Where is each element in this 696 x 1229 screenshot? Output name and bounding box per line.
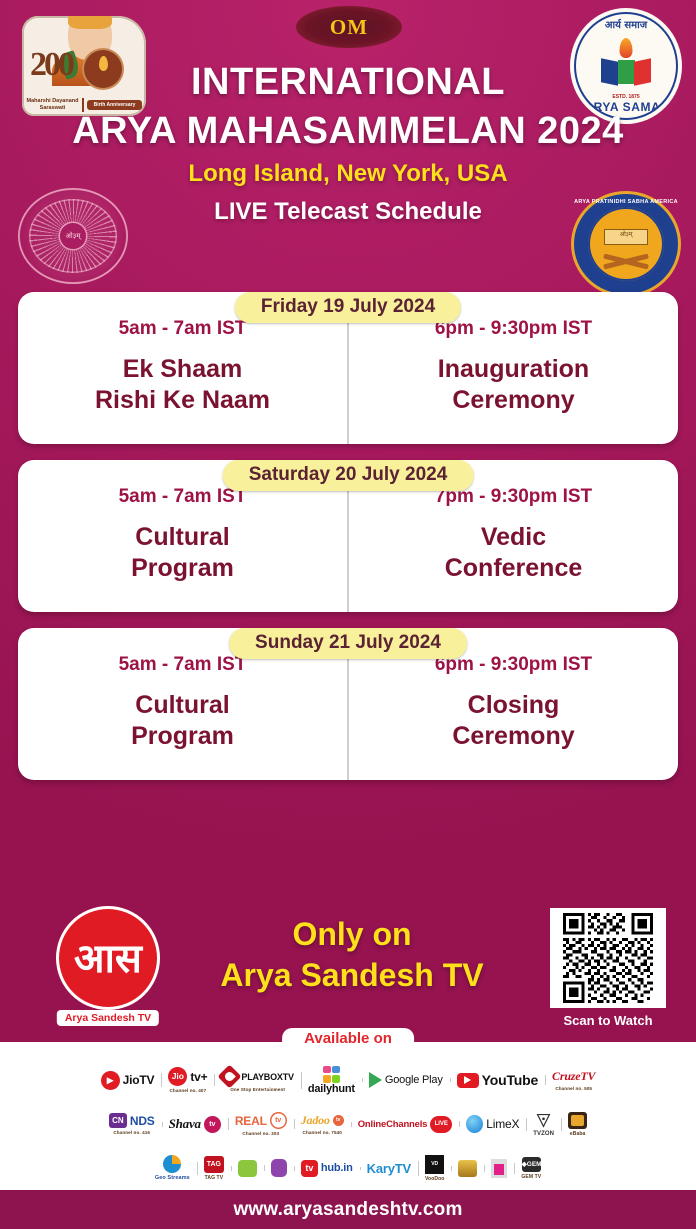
platform-label: YouTube (482, 1072, 538, 1088)
platform-label: eBaba (570, 1131, 586, 1137)
platform-label: Geo Streams (155, 1175, 190, 1181)
event-location: Long Island, New York, USA (0, 156, 696, 192)
title-block: INTERNATIONAL ARYA MAHASAMMELAN 2024 Lon… (0, 58, 696, 232)
geo-streams-icon (163, 1155, 181, 1173)
page-subtitle: LIVE Telecast Schedule (0, 192, 696, 232)
platform-gold-tv[interactable] (451, 1160, 484, 1177)
platform-logo-rows: ▶ JioTV Jio tv+ Channel no. 407 PLAYBOXT… (0, 1058, 696, 1190)
ebaba-icon (568, 1112, 587, 1129)
promo-line1: Only on (178, 914, 526, 954)
om-icon: OM (296, 6, 402, 48)
tag-tv-icon: TAG (204, 1156, 224, 1173)
platform-mmm[interactable] (484, 1159, 514, 1178)
platform-shava-tv[interactable]: Shava tv (162, 1116, 228, 1133)
day-date-badge: Saturday 20 July 2024 (223, 460, 474, 491)
yajna-sticks-icon (603, 253, 649, 271)
platform-purple-tv[interactable] (264, 1159, 294, 1177)
day-date-badge: Sunday 21 July 2024 (229, 628, 467, 659)
schedule-day-friday: Friday 19 July 2024 5am - 7am IST Ek Sha… (18, 292, 678, 444)
platform-label: Shava (169, 1116, 201, 1132)
jadoo-tv-icon: tv (333, 1115, 344, 1126)
platform-label: GEM TV (521, 1174, 541, 1180)
platform-channel-number: Channel no. 7540 (303, 1130, 342, 1135)
platform-geo-streams[interactable]: Geo Streams (148, 1155, 197, 1181)
platform-gem-tv[interactable]: ◆GEM GEM TV (514, 1157, 548, 1180)
slot-event: ClosingCeremony (359, 690, 668, 752)
platform-tvhub[interactable]: tv hub.in (294, 1160, 360, 1177)
slot-event: VedicConference (359, 522, 668, 584)
qr-code-icon (555, 913, 661, 1003)
real-tv-icon: tv (270, 1112, 287, 1129)
platform-youtube[interactable]: YouTube (450, 1072, 545, 1088)
slot-event: CulturalProgram (28, 522, 337, 584)
om-label: OM (330, 15, 368, 40)
platform-label: TAG TV (205, 1175, 224, 1181)
platform-online-channels-live[interactable]: OnlineChannels LIVE (351, 1116, 460, 1133)
channel-logo-circle: आस (56, 906, 160, 1010)
promo-section: आस Arya Sandesh TV Only on Arya Sandesh … (0, 900, 696, 1032)
available-on-section: Available on ▶ JioTV Jio tv+ Channel no.… (0, 1042, 696, 1190)
platform-jiotv[interactable]: ▶ JioTV (94, 1071, 162, 1090)
available-on-label: Available on (282, 1028, 414, 1050)
platform-channel-number: Channel no. 505 (555, 1086, 592, 1091)
platform-green-tv[interactable] (231, 1160, 264, 1177)
platform-channel-number: Channel no. 416 (113, 1130, 150, 1135)
schedule-day-saturday: Saturday 20 July 2024 5am - 7am IST Cult… (18, 460, 678, 612)
platform-label: VooDoo (425, 1176, 444, 1182)
platform-label: PLAYBOXTV (241, 1072, 293, 1082)
qr-caption: Scan to Watch (544, 1013, 672, 1028)
footer-bar: www.aryasandeshtv.com (0, 1190, 696, 1229)
tvhub-icon: tv (301, 1160, 318, 1177)
gem-tv-icon: ◆GEM (522, 1157, 541, 1172)
savera-icon: CN (109, 1113, 127, 1128)
platform-label: Jadoo (301, 1113, 330, 1128)
platform-real-tv[interactable]: REAL tv Channel no. 303 (228, 1112, 294, 1136)
platform-label: dailyhunt (308, 1083, 355, 1095)
google-play-icon (369, 1072, 382, 1088)
platform-label: TVZON (533, 1131, 554, 1137)
mmm-icon (491, 1159, 507, 1178)
platform-ebaba[interactable]: eBaba (561, 1112, 594, 1137)
playbox-diamond-icon (218, 1064, 242, 1088)
limex-icon (466, 1115, 483, 1133)
tvzon-icon (535, 1112, 552, 1129)
platform-label: OnlineChannels (358, 1119, 428, 1130)
slot-event: Ek ShaamRishi Ke Naam (28, 354, 337, 416)
poster-header: OM 200 Maharshi Dayanand Saraswati Birth… (0, 0, 696, 278)
channel-logo-devanagari: आस (56, 906, 160, 1010)
platform-jio-tv-plus[interactable]: Jio tv+ Channel no. 407 (161, 1067, 214, 1093)
platform-dailyhunt[interactable]: dailyhunt (301, 1066, 362, 1095)
platform-kary-tv[interactable]: KaryTV (360, 1161, 418, 1176)
flame-icon (620, 38, 633, 58)
jio-icon: ▶ (101, 1071, 120, 1090)
platform-label: Google Play (385, 1074, 443, 1086)
platform-label: JioTV (123, 1073, 155, 1087)
platform-label: LimeX (486, 1117, 519, 1131)
voodoo-tv-icon: VD (425, 1155, 444, 1174)
gold-tv-icon (458, 1160, 477, 1177)
promo-text: Only on Arya Sandesh TV (178, 914, 526, 996)
platform-label: CruzeTV (552, 1069, 595, 1084)
page-title-line1: INTERNATIONAL (0, 58, 696, 106)
platform-label: tv+ (190, 1070, 207, 1084)
slot-event: CulturalProgram (28, 690, 337, 752)
platform-voodoo-tv[interactable]: VD VooDoo (418, 1155, 451, 1182)
arya-sandesh-tv-logo: आस Arya Sandesh TV (48, 906, 168, 1024)
slot-event: InaugurationCeremony (359, 354, 668, 416)
youtube-icon (457, 1073, 479, 1088)
website-url[interactable]: www.aryasandeshtv.com (233, 1199, 462, 1221)
platform-jadoo-tv[interactable]: Jadoo tv Channel no. 7540 (294, 1113, 351, 1135)
platform-channel-number: Channel no. 303 (242, 1131, 279, 1136)
qr-section: Scan to Watch (544, 908, 672, 1028)
channel-logo-label: Arya Sandesh TV (57, 1010, 159, 1026)
platform-savera-tv[interactable]: CN NDS Channel no. 416 (102, 1113, 162, 1135)
platform-tvzon[interactable]: TVZON (526, 1112, 561, 1137)
arya-samaj-devanagari: आर्य समाज (574, 17, 678, 31)
platform-logo-row: Geo Streams TAG TAG TV tv hub.in (0, 1146, 696, 1190)
platform-logo-row: CN NDS Channel no. 416 Shava tv REAL tv (0, 1102, 696, 1146)
page-title-line2: ARYA MAHASAMMELAN 2024 (0, 106, 696, 156)
schedule-day-sunday: Sunday 21 July 2024 5am - 7am IST Cultur… (18, 628, 678, 780)
schedule-section: Friday 19 July 2024 5am - 7am IST Ek Sha… (0, 278, 696, 796)
platform-playboxtv[interactable]: PLAYBOXTV One Stop Entertainment (214, 1068, 300, 1092)
event-poster: OM 200 Maharshi Dayanand Saraswati Birth… (0, 0, 696, 1229)
qr-code-box[interactable] (550, 908, 666, 1008)
platform-limex[interactable]: LimeX (459, 1115, 526, 1133)
online-channels-live-icon: LIVE (430, 1116, 452, 1133)
promo-line2: Arya Sandesh TV (178, 954, 526, 996)
platform-label: REAL (235, 1114, 267, 1128)
turban-shape (68, 16, 112, 29)
platform-tagline: One Stop Entertainment (230, 1087, 285, 1092)
platform-logo-row: ▶ JioTV Jio tv+ Channel no. 407 PLAYBOXT… (0, 1058, 696, 1102)
green-tv-icon (238, 1160, 257, 1177)
platform-cruzetv[interactable]: CruzeTV Channel no. 505 (545, 1069, 602, 1091)
platform-tag-tv[interactable]: TAG TAG TV (197, 1156, 231, 1181)
day-date-badge: Friday 19 July 2024 (235, 292, 461, 323)
platform-label: hub.in (321, 1162, 353, 1174)
platform-channel-number: Channel no. 407 (170, 1088, 207, 1093)
shava-tv-icon: tv (204, 1116, 221, 1133)
platform-label: KaryTV (367, 1161, 411, 1176)
jio-circle-icon: Jio (168, 1067, 187, 1086)
purple-tv-icon (271, 1159, 287, 1177)
platform-label: NDS (130, 1114, 155, 1128)
platform-google-play[interactable]: Google Play (362, 1072, 450, 1088)
dailyhunt-icon (323, 1066, 340, 1083)
